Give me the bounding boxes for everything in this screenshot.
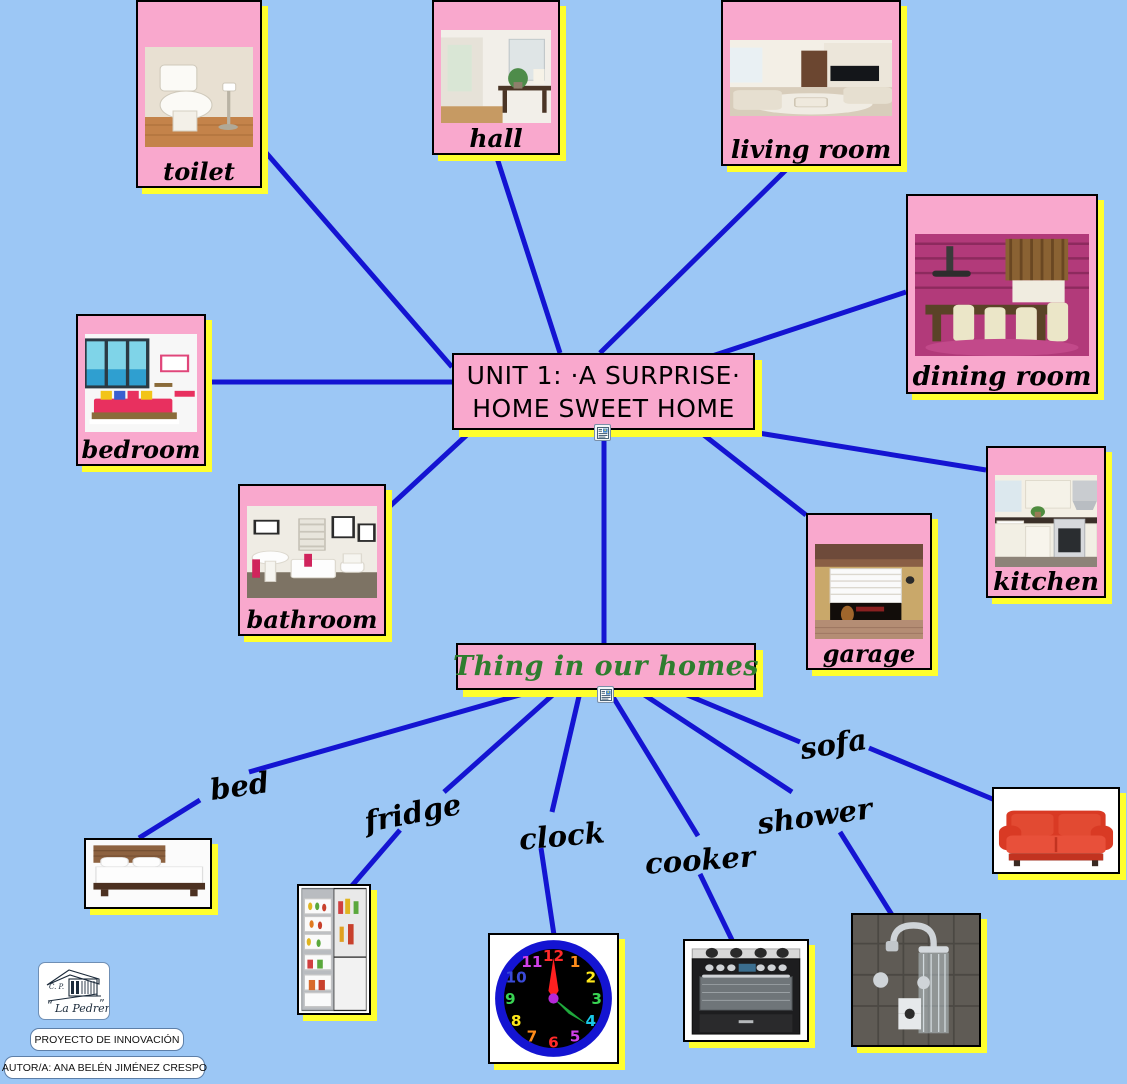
room-card-bathroom[interactable]: bathroom (238, 484, 386, 636)
edge-sub-to-shower (640, 692, 792, 792)
svg-text:9: 9 (505, 990, 516, 1008)
svg-text:11: 11 (521, 953, 542, 971)
author-badge: AUTOR/A: ANA BELÉN JIMÉNEZ CRESPO (4, 1056, 205, 1079)
room-label-garage: garage (823, 642, 916, 666)
svg-text:10: 10 (506, 969, 527, 987)
project-badge-label: PROYECTO DE INNOVACIÓN (35, 1034, 180, 1046)
edge-main-to-garage (700, 432, 806, 515)
room-photo-bathroom (247, 506, 377, 598)
room-label-bathroom: bathroom (247, 608, 378, 632)
room-photo-dining-room (915, 234, 1089, 356)
edge-sub-to-bed-pic (139, 800, 200, 838)
edge-sub-to-clock (552, 692, 580, 812)
edge-main-to-kitchen (740, 430, 986, 470)
edge-sub-to-cooker (610, 692, 698, 836)
svg-text:7: 7 (527, 1028, 538, 1046)
logo-initials: C. P. (49, 983, 64, 991)
thing-photo-bed[interactable] (84, 838, 212, 909)
central-topic-line-1: UNIT 1: ·A SURPRISE· (467, 359, 741, 392)
room-photo-bedroom (85, 334, 197, 432)
thing-photo-clock[interactable]: 121234567891011 (488, 933, 619, 1064)
thing-label-shower: shower (756, 794, 874, 839)
room-photo-kitchen (995, 475, 1097, 567)
subtopic-node-things[interactable]: Thing in our homes (456, 643, 756, 690)
room-card-garage[interactable]: garage (806, 513, 932, 670)
room-label-dining-room: dining room (913, 364, 1092, 390)
room-card-dining-room[interactable]: dining room (906, 194, 1098, 394)
svg-text:“: “ (47, 999, 53, 1012)
note-attachment-icon[interactable] (597, 686, 614, 703)
room-photo-garage (815, 544, 923, 639)
school-logo: C. P. La Pedrera “ ” (38, 962, 110, 1020)
edge-sub-to-shower-pic (840, 832, 892, 915)
room-label-toilet: toilet (163, 160, 235, 184)
room-label-kitchen: kitchen (993, 569, 1099, 594)
central-topic-line-2: HOME SWEET HOME (472, 392, 735, 425)
edge-sub-to-fridge (444, 692, 556, 792)
room-card-toilet[interactable]: toilet (136, 0, 262, 188)
room-label-living-room: living room (731, 137, 891, 162)
thing-label-cooker: cooker (644, 842, 756, 879)
room-card-hall[interactable]: hall (432, 0, 560, 155)
room-card-bedroom[interactable]: bedroom (76, 314, 206, 466)
edge-sub-to-bed (249, 692, 530, 772)
subtopic-label: Thing in our homes (453, 651, 759, 683)
edge-sub-to-sofa-pic (869, 748, 995, 800)
thing-label-fridge: fridge (362, 790, 464, 837)
svg-text:2: 2 (586, 969, 597, 987)
edge-sub-to-clock-pic (541, 848, 554, 935)
thing-label-sofa: sofa (798, 725, 869, 764)
thing-photo-fridge[interactable] (297, 884, 371, 1015)
thing-photo-shower[interactable] (851, 913, 981, 1047)
room-label-bedroom: bedroom (82, 438, 201, 462)
svg-text:4: 4 (586, 1012, 597, 1030)
edge-main-to-living-room (600, 168, 788, 353)
thing-photo-cooker[interactable] (683, 939, 809, 1042)
thing-label-bed: bed (208, 768, 270, 805)
author-badge-label: AUTOR/A: ANA BELÉN JIMÉNEZ CRESPO (2, 1062, 207, 1074)
note-attachment-icon[interactable] (594, 424, 611, 441)
thing-label-clock: clock (518, 818, 606, 854)
svg-text:5: 5 (570, 1028, 581, 1046)
central-topic-node[interactable]: UNIT 1: ·A SURPRISE· HOME SWEET HOME (452, 353, 755, 430)
edge-sub-to-sofa (680, 692, 800, 742)
room-photo-toilet (145, 47, 253, 147)
mindmap-canvas: UNIT 1: ·A SURPRISE· HOME SWEET HOME Thi… (0, 0, 1127, 1084)
svg-text:1: 1 (570, 953, 581, 971)
room-photo-living-room (730, 40, 892, 116)
project-badge: PROYECTO DE INNOVACIÓN (30, 1028, 184, 1051)
room-photo-hall (441, 30, 551, 123)
edge-main-to-toilet (262, 148, 452, 367)
svg-text:8: 8 (511, 1012, 522, 1030)
thing-photo-sofa[interactable] (992, 787, 1120, 874)
svg-text:6: 6 (548, 1033, 559, 1051)
svg-text:”: ” (99, 997, 105, 1010)
svg-text:3: 3 (591, 990, 602, 1008)
edge-main-to-bathroom (388, 432, 470, 508)
edge-sub-to-fridge-pic (350, 830, 400, 888)
edge-sub-to-cooker-pic (700, 874, 732, 940)
edge-main-to-hall (497, 158, 560, 353)
room-label-hall: hall (469, 126, 522, 151)
room-card-living-room[interactable]: living room (721, 0, 901, 166)
edge-main-to-dining-room (700, 292, 906, 360)
room-card-kitchen[interactable]: kitchen (986, 446, 1106, 598)
